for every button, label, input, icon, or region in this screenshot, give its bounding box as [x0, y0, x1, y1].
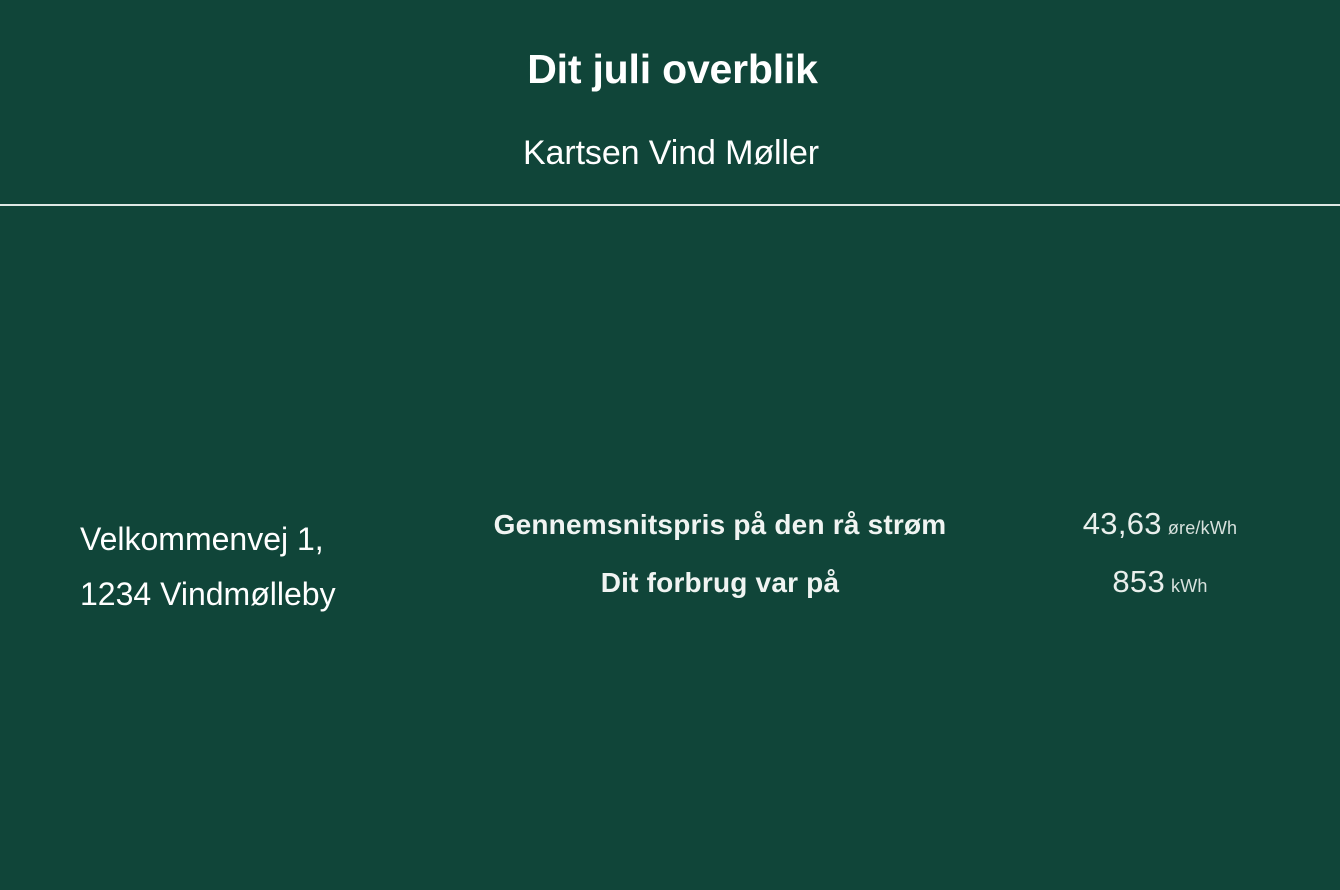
- summary-value-consumption: 853kWh: [1000, 564, 1320, 600]
- summary-row-consumption: Dit forbrug var på 853kWh: [440, 564, 1320, 622]
- customer-address: Velkommenvej 1, 1234 Vindmølleby: [80, 512, 336, 622]
- page-header: Dit juli overblik Kartsen Vind Møller: [0, 0, 1340, 205]
- address-line-2: 1234 Vindmølleby: [80, 567, 336, 622]
- summary-label-average-price: Gennemsnitspris på den rå strøm: [440, 509, 1000, 541]
- consumption-unit: kWh: [1171, 576, 1208, 596]
- page-title: Dit juli overblik: [0, 49, 1340, 90]
- average-price-unit: øre/kWh: [1168, 518, 1237, 538]
- summary-label-consumption: Dit forbrug var på: [440, 567, 1000, 599]
- address-line-1: Velkommenvej 1,: [80, 512, 336, 567]
- energy-overview-page: { "theme": { "background": "#104539", "t…: [0, 0, 1340, 890]
- overview-body: Velkommenvej 1, 1234 Vindmølleby Gennems…: [0, 206, 1340, 890]
- summary-value-average-price: 43,63øre/kWh: [1000, 506, 1320, 542]
- average-price-number: 43,63: [1083, 506, 1162, 541]
- summary-row-average-price: Gennemsnitspris på den rå strøm 43,63øre…: [440, 506, 1320, 564]
- customer-name: Kartsen Vind Møller: [0, 136, 1340, 170]
- consumption-number: 853: [1112, 564, 1165, 599]
- summary-table: Gennemsnitspris på den rå strøm 43,63øre…: [440, 506, 1320, 622]
